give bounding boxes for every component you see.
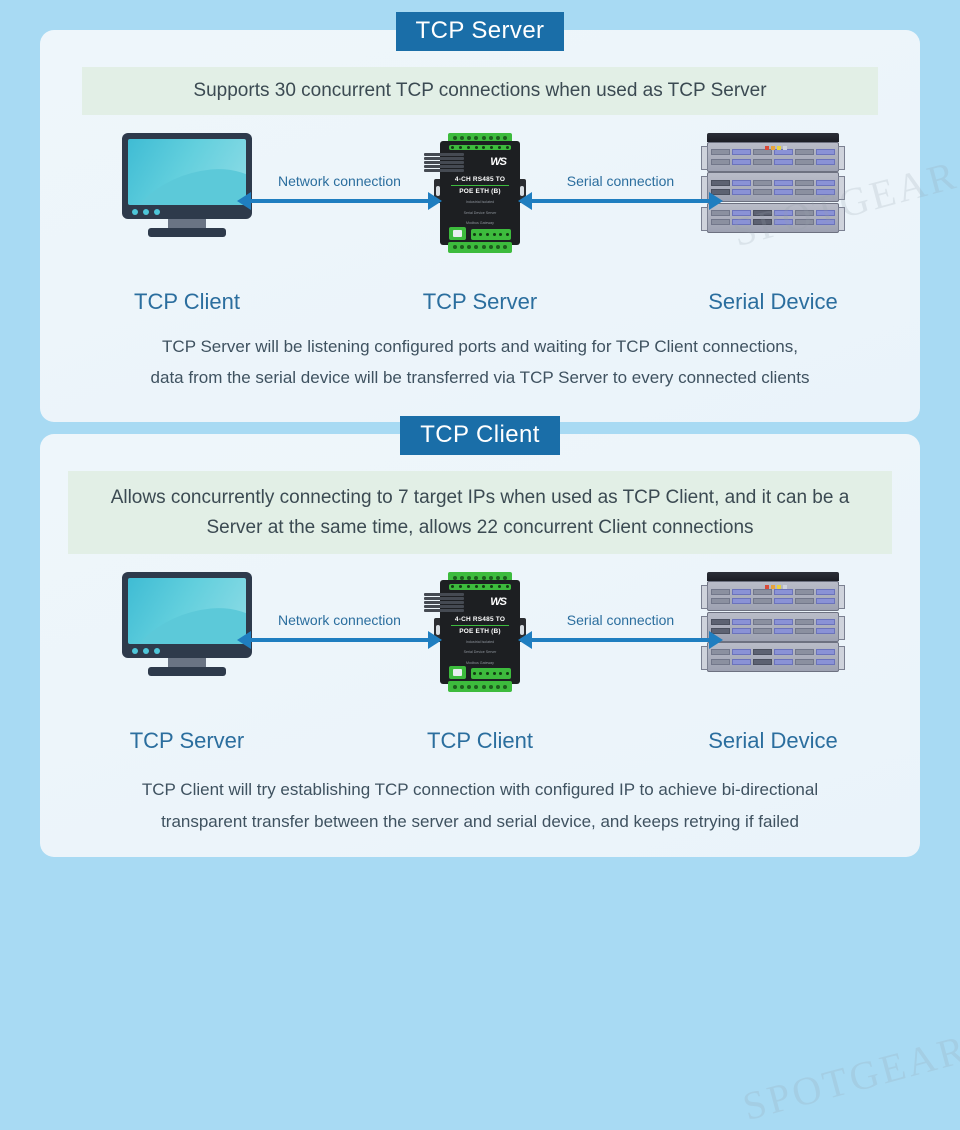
arrow-head-right <box>709 631 723 649</box>
rack-bay <box>774 646 793 668</box>
arrow-head-right <box>709 192 723 210</box>
arrow-bidirectional <box>518 195 723 207</box>
rack-unit <box>707 172 839 202</box>
device-title-divider <box>451 185 509 186</box>
rack-bay <box>732 176 751 198</box>
rack-bay <box>753 207 772 229</box>
watermark: SPOTGEAR <box>738 1025 960 1130</box>
description-line-2: transparent transfer between the server … <box>95 806 865 837</box>
device-ethernet-port <box>449 227 466 240</box>
rack-bay <box>753 616 772 638</box>
rack-bay <box>795 616 814 638</box>
panel-tcp-server: TCP Server Supports 30 concurrent TCP co… <box>40 30 920 422</box>
monitor-indicator-dots <box>132 209 160 215</box>
rack-unit <box>707 612 839 642</box>
monitor-icon <box>122 572 252 676</box>
gateway-device-icon: WS 4-CH RS485 TO POE ETH (B) Industrial … <box>434 133 526 253</box>
rack-bay <box>816 646 835 668</box>
rack-bay <box>795 207 814 229</box>
arrow-bidirectional <box>518 634 723 646</box>
rack-bay <box>816 146 835 168</box>
rack-bay <box>774 616 793 638</box>
arrow-network-connection: Network connection <box>237 612 442 646</box>
arrow-network-connection: Network connection <box>237 173 442 207</box>
rack-bay <box>816 585 835 607</box>
rack-bay <box>732 646 751 668</box>
rack-bay <box>753 646 772 668</box>
rack-bay <box>816 176 835 198</box>
device-connector-bottom <box>471 668 511 679</box>
panel-notice-banner: Supports 30 concurrent TCP connections w… <box>82 67 878 114</box>
rack-bay <box>774 176 793 198</box>
rack-led-row <box>765 146 787 150</box>
device-title-line1: 4-CH RS485 TO <box>455 616 505 623</box>
arrow-head-left <box>518 631 532 649</box>
panel-description: TCP Server will be listening configured … <box>95 331 865 394</box>
device-title-line2: POE ETH (B) <box>459 628 501 635</box>
arrow-line <box>251 638 428 642</box>
rack-unit <box>707 142 839 172</box>
rack-bay <box>816 207 835 229</box>
monitor-screen <box>128 139 246 205</box>
rack-bay <box>795 585 814 607</box>
device-pin-labels <box>424 153 464 172</box>
monitor-icon <box>122 133 252 237</box>
rack-bay <box>711 207 730 229</box>
device-subtitle-line1: Industrial Isolated <box>466 640 494 645</box>
arrow-head-left <box>237 631 251 649</box>
device-pin-labels <box>424 593 464 612</box>
panel-title-badge: TCP Server <box>396 12 565 51</box>
arrow-line <box>251 199 428 203</box>
caption-middle: TCP Server <box>405 289 555 315</box>
arrow-head-left <box>518 192 532 210</box>
rack-unit <box>707 581 839 611</box>
device-body: WS 4-CH RS485 TO POE ETH (B) Industrial … <box>440 580 520 684</box>
arrow-line <box>532 638 709 642</box>
monitor-stand-base <box>148 228 226 237</box>
device-subtitle-line2: Serial Device Server <box>464 650 497 655</box>
device-brand-logo: WS <box>490 156 506 168</box>
caption-left: TCP Server <box>102 728 272 754</box>
caption-left: TCP Client <box>102 289 272 315</box>
device-title-line1: 4-CH RS485 TO <box>455 176 505 183</box>
rack-bay <box>795 176 814 198</box>
panel-title-badge: TCP Client <box>400 416 560 455</box>
diagram-captions: TCP Server TCP Client Serial Device <box>102 728 858 754</box>
diagram-captions: TCP Client TCP Server Serial Device <box>102 289 858 315</box>
device-subtitle-line2: Serial Device Server <box>464 211 497 216</box>
device-terminal-bottom <box>448 681 512 692</box>
panel-description: TCP Client will try establishing TCP con… <box>95 774 865 837</box>
server-rack-icon <box>707 572 839 672</box>
arrow-bidirectional <box>237 634 442 646</box>
arrow-head-right <box>428 631 442 649</box>
device-connector-bottom <box>471 229 511 240</box>
monitor-bezel <box>122 572 252 658</box>
rack-bay <box>753 176 772 198</box>
caption-right: Serial Device <box>688 728 858 754</box>
description-line-2: data from the serial device will be tran… <box>95 362 865 393</box>
arrow-label-serial: Serial connection <box>567 173 674 189</box>
rack-bay <box>732 146 751 168</box>
device-footer-ports <box>449 666 511 679</box>
rack-bay <box>711 585 730 607</box>
arrow-label-serial: Serial connection <box>567 612 674 628</box>
monitor-screen <box>128 578 246 644</box>
device-connector-top <box>449 584 511 590</box>
rack-bay <box>816 616 835 638</box>
product-feature-page: TCP Server Supports 30 concurrent TCP co… <box>0 0 960 887</box>
arrow-head-left <box>237 192 251 210</box>
connection-diagram: WS 4-CH RS485 TO POE ETH (B) Industrial … <box>102 572 858 722</box>
rack-bay <box>795 146 814 168</box>
panel-notice-banner: Allows concurrently connecting to 7 targ… <box>68 471 892 554</box>
gateway-device-icon: WS 4-CH RS485 TO POE ETH (B) Industrial … <box>434 572 526 692</box>
rack-bay <box>732 585 751 607</box>
rack-bay <box>732 616 751 638</box>
rack-bay <box>711 146 730 168</box>
arrow-serial-connection: Serial connection <box>518 173 723 207</box>
device-connector-top <box>449 145 511 151</box>
arrow-line <box>532 199 709 203</box>
server-rack-icon <box>707 133 839 233</box>
arrow-label-network: Network connection <box>278 612 401 628</box>
caption-middle: TCP Client <box>405 728 555 754</box>
rack-bay <box>795 646 814 668</box>
monitor-stand-base <box>148 667 226 676</box>
device-brand-logo: WS <box>490 596 506 608</box>
device-title-line2: POE ETH (B) <box>459 188 501 195</box>
arrow-bidirectional <box>237 195 442 207</box>
caption-right: Serial Device <box>688 289 858 315</box>
monitor-bezel <box>122 133 252 219</box>
device-ethernet-port <box>449 666 466 679</box>
rack-unit <box>707 642 839 672</box>
rack-led-row <box>765 585 787 589</box>
rack-bay <box>774 207 793 229</box>
description-line-1: TCP Client will try establishing TCP con… <box>95 774 865 805</box>
panel-badge-container: TCP Server <box>40 12 920 51</box>
arrow-label-network: Network connection <box>278 173 401 189</box>
connection-diagram: WS 4-CH RS485 TO POE ETH (B) Industrial … <box>102 133 858 283</box>
rack-top-cover <box>707 133 839 142</box>
rack-unit <box>707 203 839 233</box>
rack-bay <box>711 646 730 668</box>
device-subtitle-line1: Industrial Isolated <box>466 200 494 205</box>
description-line-1: TCP Server will be listening configured … <box>95 331 865 362</box>
device-body: WS 4-CH RS485 TO POE ETH (B) Industrial … <box>440 141 520 245</box>
device-footer-ports <box>449 227 511 240</box>
arrow-serial-connection: Serial connection <box>518 612 723 646</box>
arrow-head-right <box>428 192 442 210</box>
monitor-indicator-dots <box>132 648 160 654</box>
rack-top-cover <box>707 572 839 581</box>
device-terminal-bottom <box>448 242 512 253</box>
panel-tcp-client: TCP Client Allows concurrently connectin… <box>40 434 920 857</box>
rack-bay <box>732 207 751 229</box>
panel-badge-container: TCP Client <box>40 416 920 455</box>
device-title-divider <box>451 625 509 626</box>
